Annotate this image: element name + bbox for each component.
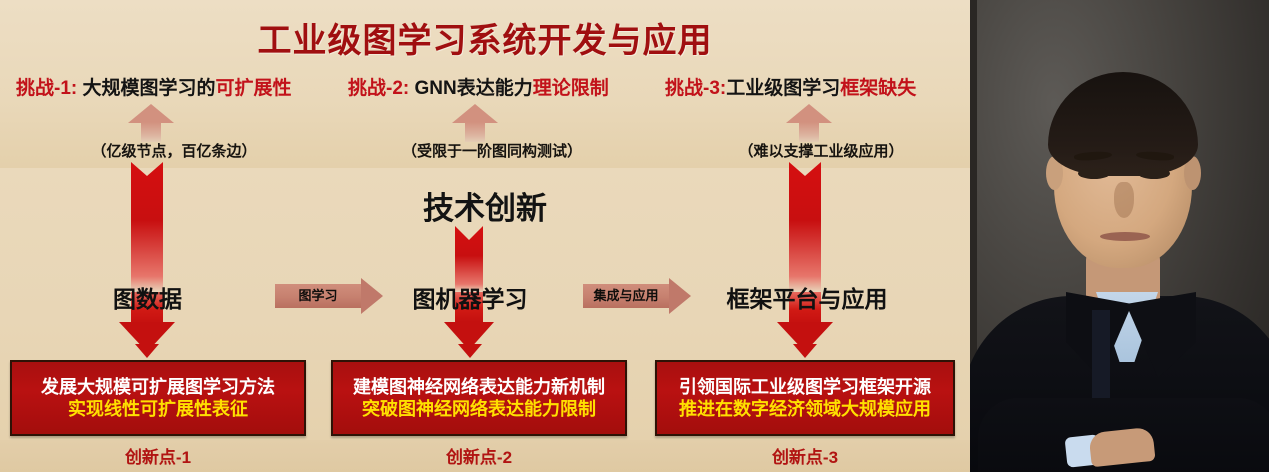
- slide-root: 工业级图学习系统开发与应用 挑战-1: 大规模图学习的可扩展性 挑战-2: GN…: [0, 0, 1269, 472]
- challenge-note-3: （难以支撑工业级应用）: [726, 140, 916, 161]
- result-box-3-line1: 引领国际工业级图学习框架开源: [679, 376, 931, 399]
- challenge-note-1: （亿级节点，百亿条边）: [84, 140, 264, 161]
- right-arrow-head-icon-2: [669, 278, 691, 314]
- portrait-mouth: [1100, 232, 1150, 241]
- down-arrow-shaft-3: [789, 162, 821, 292]
- challenge-2-prefix: 挑战-2:: [348, 78, 415, 99]
- up-arrow-icon-3: [786, 104, 832, 142]
- up-arrow-icon-1: [128, 104, 174, 142]
- challenges-row: 挑战-1: 大规模图学习的可扩展性 挑战-2: GNN表达能力理论限制 挑战-3…: [0, 76, 970, 102]
- result-box-3: 引领国际工业级图学习框架开源 推进在数字经济领域大规模应用: [655, 360, 955, 436]
- right-arrow-head-icon-1: [361, 278, 383, 314]
- box-connector-arrow-icon-2: [458, 344, 482, 358]
- flow-stage-1: 图数据: [85, 280, 210, 314]
- challenge-2-body: GNN表达能力: [415, 78, 533, 99]
- box-connector-arrow-icon-1: [135, 344, 159, 358]
- challenge-3-prefix: 挑战-3:: [665, 78, 726, 99]
- challenge-item-3: 挑战-3:工业级图学习框架缺失: [665, 76, 916, 102]
- down-arrow-icon-3: [789, 162, 821, 358]
- up-arrow-icon-2: [452, 104, 498, 142]
- down-arrow-shaft-1: [131, 162, 163, 292]
- portrait-nose: [1114, 182, 1134, 218]
- result-box-3-line2: 推进在数字经济领域大规模应用: [679, 398, 931, 421]
- challenge-3-body: 工业级图学习: [726, 78, 840, 99]
- result-box-2: 建模图神经网络表达能力新机制 突破图神经网络表达能力限制: [331, 360, 627, 436]
- portrait-eye-right: [1138, 168, 1170, 179]
- up-arrow-shaft-1: [141, 122, 161, 142]
- up-arrow-head-3: [786, 104, 832, 123]
- portrait-hair: [1048, 72, 1198, 176]
- challenge-1-highlight: 可扩展性: [216, 78, 292, 99]
- down-arrow-icon-1: [131, 162, 163, 358]
- flow-connector-arrow-1: 图学习: [275, 278, 383, 314]
- result-box-2-line1: 建模图神经网络表达能力新机制: [353, 376, 605, 399]
- result-box-1-line2: 实现线性可扩展性表征: [68, 398, 248, 421]
- up-arrow-shaft-2: [465, 122, 485, 142]
- up-arrow-shaft-3: [799, 122, 819, 142]
- flow-connector-arrow-2: 集成与应用: [583, 278, 691, 314]
- challenge-3-highlight: 框架缺失: [840, 78, 916, 99]
- connector-label-2: 集成与应用: [583, 284, 669, 308]
- innovation-caption-3: 创新点-3: [655, 443, 955, 468]
- portrait-eye-left: [1078, 168, 1110, 179]
- challenge-note-2: （受限于一阶图同构测试）: [392, 140, 592, 161]
- page-title: 工业级图学习系统开发与应用: [0, 13, 970, 62]
- challenge-1-body: 大规模图学习的: [83, 78, 216, 99]
- result-box-1-line1: 发展大规模可扩展图学习方法: [41, 376, 275, 399]
- innovation-caption-2: 创新点-2: [331, 443, 627, 468]
- portrait-photo: [970, 0, 1269, 472]
- result-box-2-line2: 突破图神经网络表达能力限制: [362, 398, 596, 421]
- portrait-hand: [1088, 427, 1155, 468]
- flow-stage-2: 图机器学习: [400, 280, 540, 314]
- challenge-1-prefix: 挑战-1:: [16, 78, 83, 99]
- box-connector-arrow-icon-3: [793, 344, 817, 358]
- up-arrow-head-2: [452, 104, 498, 123]
- content-panel: 工业级图学习系统开发与应用 挑战-1: 大规模图学习的可扩展性 挑战-2: GN…: [0, 0, 970, 472]
- result-box-1: 发展大规模可扩展图学习方法 实现线性可扩展性表征: [10, 360, 306, 436]
- innovation-caption-1: 创新点-1: [10, 443, 306, 468]
- up-arrow-head-1: [128, 104, 174, 123]
- challenge-item-1: 挑战-1: 大规模图学习的可扩展性: [16, 76, 292, 102]
- challenge-2-highlight: 理论限制: [533, 78, 609, 99]
- connector-label-1: 图学习: [275, 284, 361, 308]
- flow-stage-3: 框架平台与应用: [707, 280, 907, 314]
- challenge-item-2: 挑战-2: GNN表达能力理论限制: [348, 76, 609, 102]
